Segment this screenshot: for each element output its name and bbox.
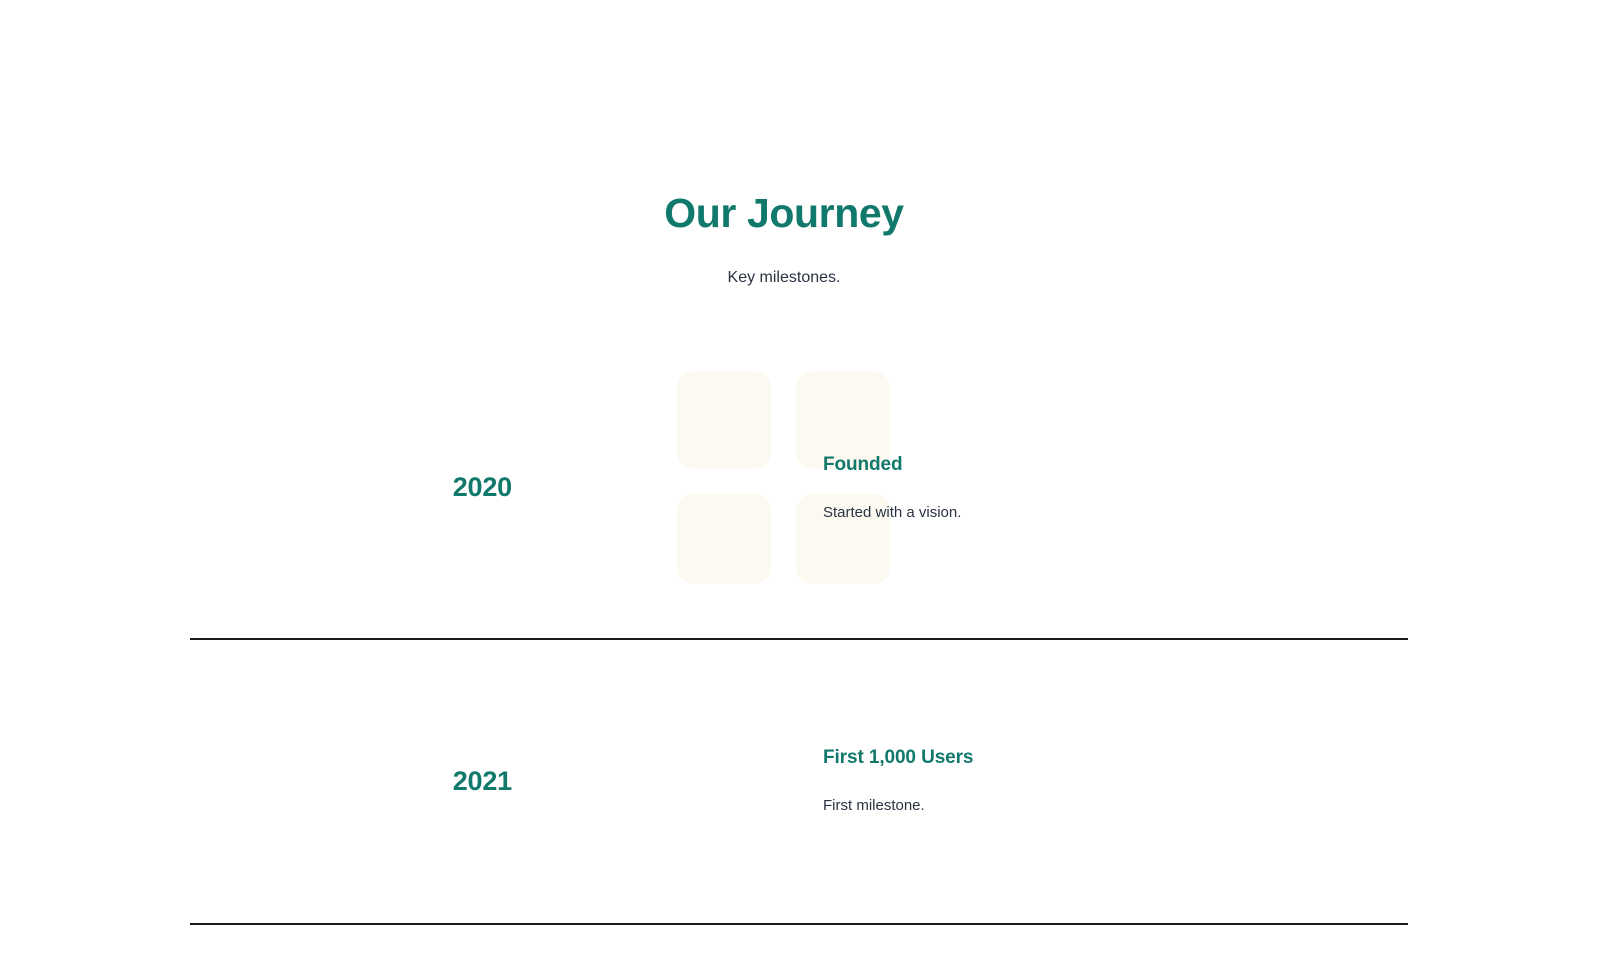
page-subtitle: Key milestones. [0,267,1568,289]
timeline-row[interactable]: 2021 First 1,000 Users First milestone. [190,640,1408,925]
timeline-row-content: Founded Started with a vision. [821,453,1408,524]
timeline-list: 2020 Founded Started with a vision. 2021… [190,338,1408,925]
timeline-year: 2021 [190,767,522,797]
page-title: Our Journey [0,190,1568,237]
timeline-row-content: First 1,000 Users First milestone. [821,746,1408,817]
timeline-description: Started with a vision. [823,502,1408,524]
journey-header: Our Journey Key milestones. [0,0,1568,290]
timeline-heading: First 1,000 Users [823,746,1408,770]
timeline-description: First milestone. [823,795,1408,817]
timeline-year: 2020 [190,473,522,503]
tile-top-left [677,371,771,469]
timeline-heading: Founded [823,453,1408,477]
timeline-row[interactable]: 2020 Founded Started with a vision. [190,338,1408,640]
journey-page: Our Journey Key milestones. 2020 Founded… [0,0,1600,978]
tile-bottom-left [677,494,771,584]
